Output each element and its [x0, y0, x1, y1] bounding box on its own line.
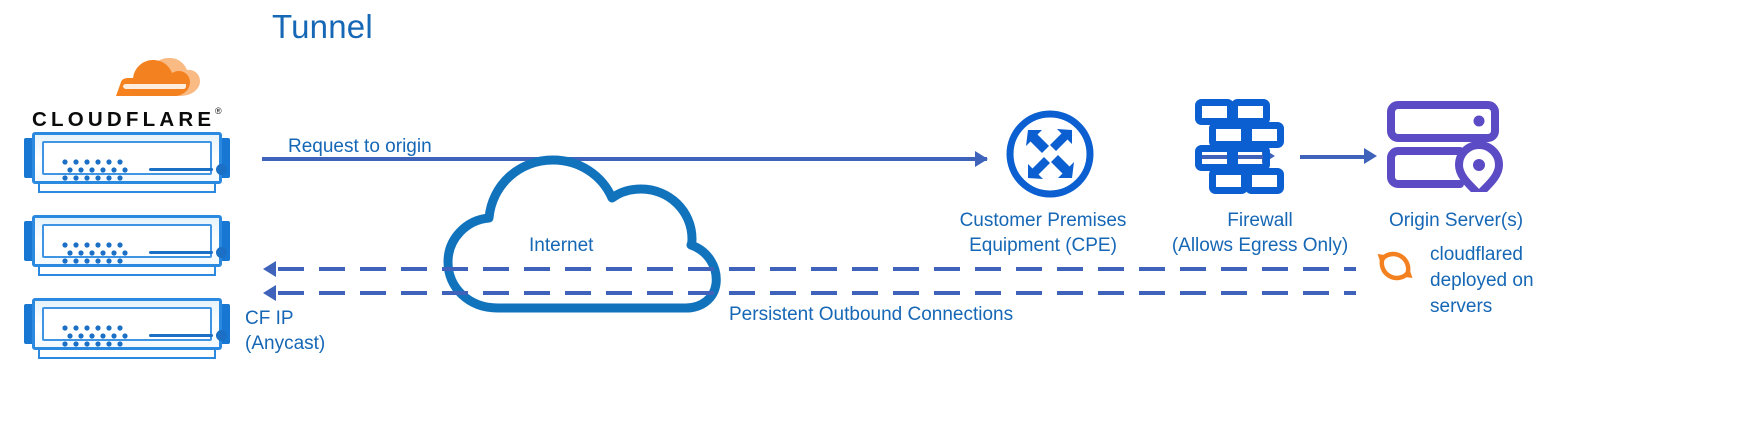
server-indicator-line	[149, 334, 213, 337]
server-with-location-pin-icon	[1386, 100, 1506, 192]
server-indicator-line	[149, 251, 213, 254]
server-base	[38, 184, 216, 193]
server-indicator-led	[216, 164, 227, 175]
cpe-label: Customer Premises Equipment (CPE)	[947, 208, 1139, 258]
converging-arrows-circle-icon	[1004, 108, 1096, 200]
server-chassis	[32, 215, 222, 267]
diagram-title: Tunnel	[272, 8, 373, 46]
server-vent-dots-icon	[62, 325, 140, 347]
firewall-label: Firewall (Allows Egress Only)	[1160, 208, 1360, 258]
persistent-connection-arrowhead-bottom	[263, 285, 276, 301]
cloudflare-server-unit-3	[24, 298, 230, 360]
internet-label: Internet	[529, 233, 593, 258]
cloudflare-server-unit-2	[24, 215, 230, 277]
cloudflare-wordmark: CLOUDFLARE	[32, 108, 215, 132]
server-vent-dots-icon	[62, 159, 140, 181]
cloudflared-note: cloudflared deployed on servers	[1430, 242, 1545, 320]
sync-arrows-icon	[1374, 245, 1416, 287]
firewall-label-line-2: (Allows Egress Only)	[1160, 233, 1360, 258]
cloudflare-server-unit-1	[24, 132, 230, 194]
firewall-to-origin-arrowhead	[1364, 148, 1377, 164]
server-indicator-led	[216, 330, 227, 341]
firewall-label-line-1: Firewall	[1160, 208, 1360, 233]
brick-wall-icon	[1194, 98, 1284, 194]
persistent-connection-line-top	[278, 267, 1356, 271]
request-flow-arrowhead	[975, 151, 988, 167]
cf-ip-anycast-label: CF IP (Anycast)	[245, 306, 375, 356]
request-to-origin-label: Request to origin	[288, 134, 432, 159]
persistent-connection-arrowhead-top	[263, 261, 276, 277]
cpe-label-line-2: Equipment (CPE)	[947, 233, 1139, 258]
cloudflare-trademark: ®	[215, 106, 222, 116]
server-faceplate	[42, 307, 212, 341]
server-base	[38, 267, 216, 276]
server-indicator-led	[216, 247, 227, 258]
cloudflared-note-line-3: servers	[1430, 294, 1545, 320]
persistent-outbound-connections-label: Persistent Outbound Connections	[729, 302, 1013, 327]
firewall-to-origin-line	[1300, 155, 1368, 159]
cloudflared-note-line-2: deployed on	[1430, 268, 1545, 294]
server-vent-dots-icon	[62, 242, 140, 264]
server-faceplate	[42, 141, 212, 175]
persistent-connection-line-bottom	[278, 291, 1356, 295]
cf-ip-line-2: (Anycast)	[245, 331, 375, 356]
cloud-icon	[440, 140, 725, 315]
cloudflare-logo: CLOUDFLARE ®	[30, 70, 230, 132]
cloudflared-note-line-1: cloudflared	[1430, 242, 1545, 268]
server-indicator-line	[149, 168, 213, 171]
cpe-label-line-1: Customer Premises	[947, 208, 1139, 233]
cf-ip-line-1: CF IP	[245, 306, 375, 331]
cloudflare-cloud-icon	[88, 58, 208, 104]
server-chassis	[32, 298, 222, 350]
tunnel-architecture-diagram: Tunnel CLOUDFLARE ®	[0, 0, 1754, 422]
server-faceplate	[42, 224, 212, 258]
server-chassis	[32, 132, 222, 184]
server-base	[38, 350, 216, 359]
origin-server-label: Origin Server(s)	[1376, 208, 1536, 233]
